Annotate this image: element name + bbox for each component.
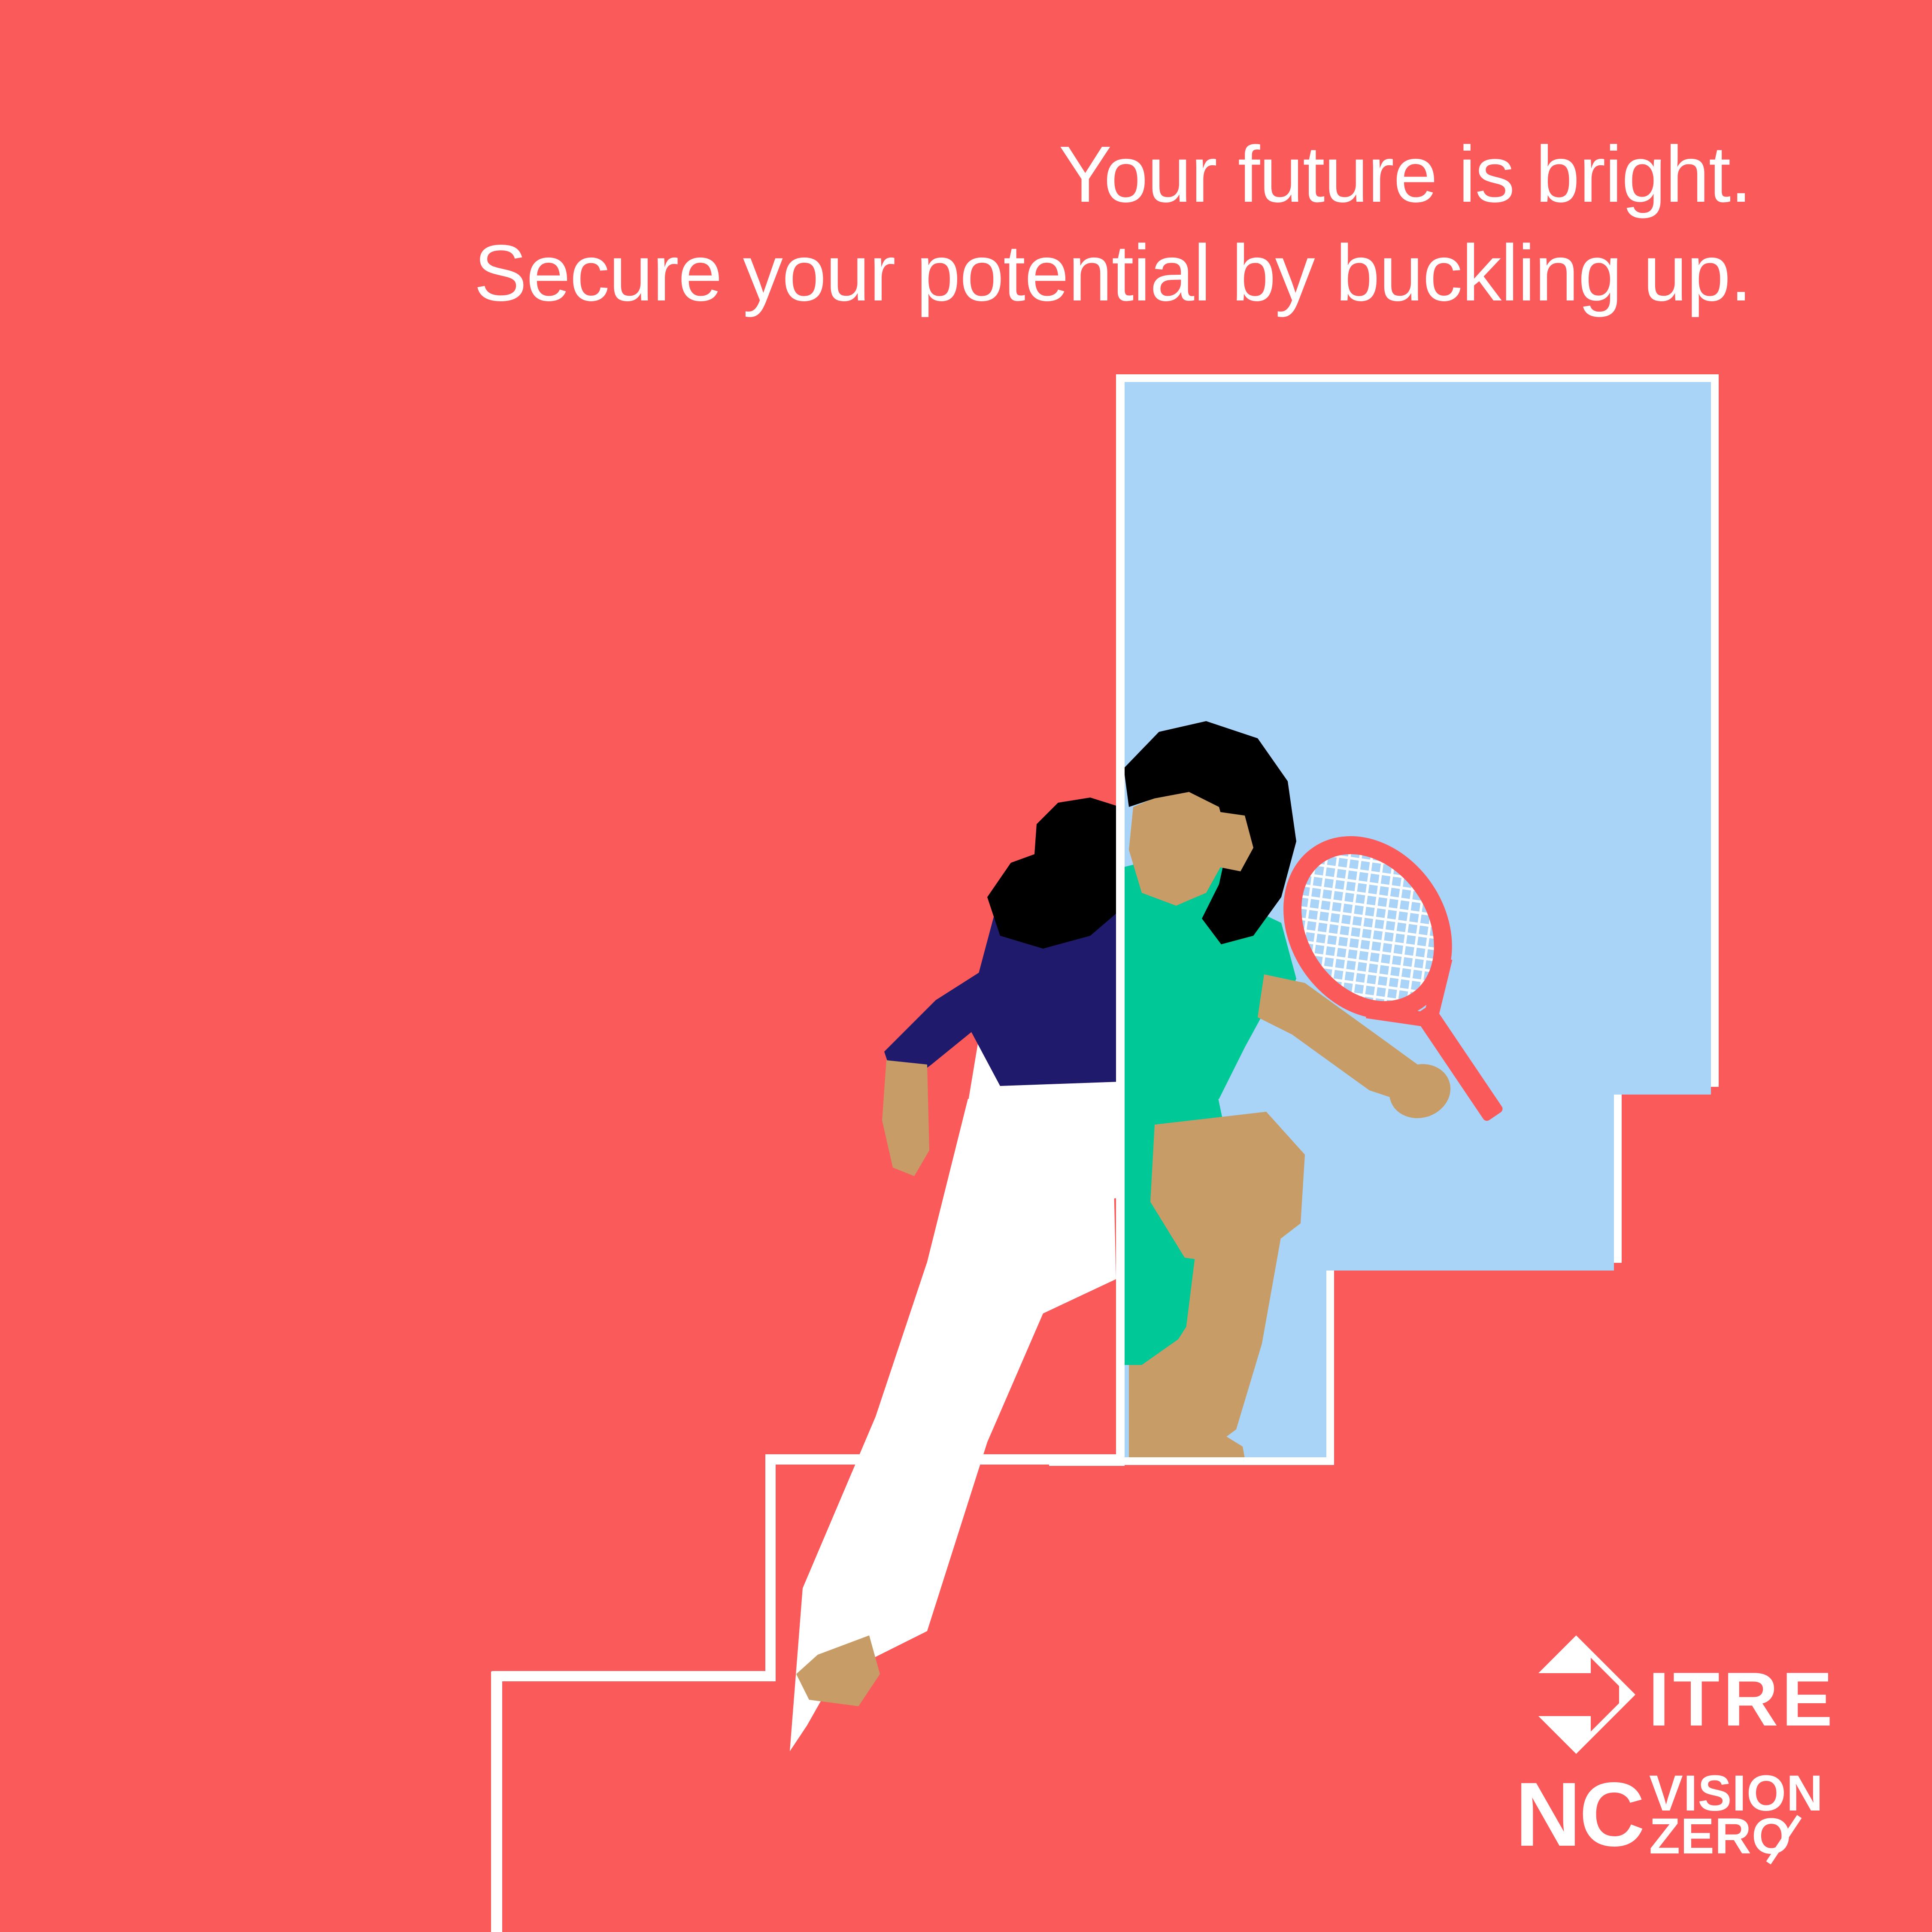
headline-line-2: Secure your potential by buckling up. <box>474 229 1751 318</box>
poster-canvas: Your future is bright. Secure your poten… <box>0 0 1932 1932</box>
headline-line-1: Your future is bright. <box>1059 130 1751 219</box>
nc-vision-zero-logo[interactable]: NC VISION ZERO <box>1515 1763 1823 1865</box>
poster-artboard: Your future is bright. Secure your poten… <box>0 0 1932 1932</box>
itre-wordmark: ITRE <box>1648 1656 1836 1742</box>
nc-prefix: NC <box>1515 1763 1643 1865</box>
split-seam <box>1116 374 1125 1466</box>
